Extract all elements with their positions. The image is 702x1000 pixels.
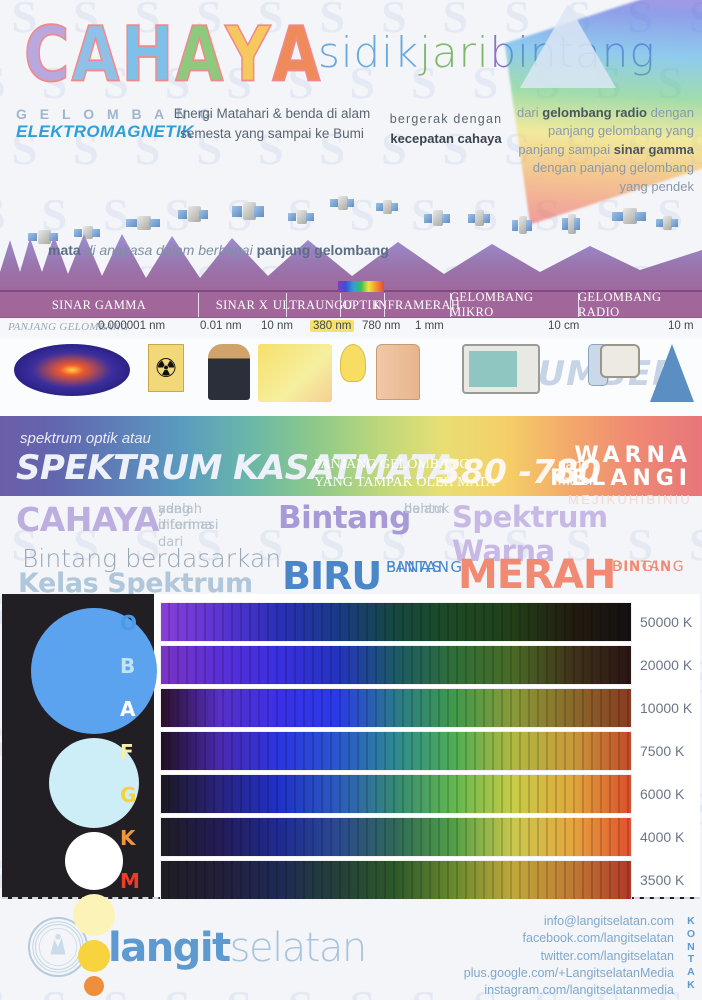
microwave-oven-icon <box>462 344 540 394</box>
contact-link-3[interactable]: plus.google.com/+LangitselatanMedia <box>464 965 674 982</box>
brand-wordmark: langitselatan <box>108 925 366 971</box>
satellite-icon-12 <box>612 208 646 224</box>
visible-spectrum-swatch-icon <box>338 281 384 292</box>
spectral-class-label-F: F <box>120 740 134 764</box>
title-letter-3: A <box>175 10 225 99</box>
em-band-divider-3 <box>340 293 341 317</box>
title-letter-0: C <box>24 10 72 99</box>
satellite-icon-11 <box>562 214 580 234</box>
em-band-sinar-gamma[interactable]: Sinar Gamma <box>0 292 198 318</box>
em-band-divider-4 <box>384 293 385 317</box>
wavelength-value-0: 0.000001 nm <box>98 320 165 332</box>
em-band-inframerah[interactable]: Inframerah <box>384 292 450 318</box>
contact-link-4[interactable]: instagram.com/langitselatanmedia <box>464 982 674 999</box>
contact-link-1[interactable]: facebook.com/langitselatan <box>464 930 674 947</box>
spectrum-strip-G <box>160 774 632 814</box>
chart-content: O50000 KB20000 KA10000 KF7500 KG6000 KK4… <box>2 594 700 897</box>
spectral-class-label-M: M <box>120 869 140 893</box>
warna-label: WARNA <box>550 444 692 467</box>
star-circle-O <box>31 608 157 734</box>
contact-link-2[interactable]: twitter.com/langitselatan <box>464 948 674 965</box>
infrared-heater-icon <box>376 344 420 400</box>
kontak-letter-3: T <box>687 953 695 966</box>
star-circle-F <box>73 894 115 936</box>
info-bintang: Bintang <box>278 500 411 536</box>
spectral-class-label-G: G <box>120 783 136 807</box>
spectrum-strip-F <box>160 731 632 771</box>
subtitle-word-1: jari <box>419 28 489 77</box>
satellite-icon-4 <box>232 202 264 220</box>
prism-icon <box>520 4 616 88</box>
radio-tower-icon <box>650 344 694 402</box>
temperature-label-B: 20000 K <box>640 657 692 673</box>
intro-radio-text: gelombang radio <box>542 105 647 120</box>
em-band-gelombang-mikro[interactable]: Gelombang mikro <box>450 292 578 318</box>
contact-list[interactable]: info@langitselatan.comfacebook.com/langi… <box>464 913 674 999</box>
wavelength-value-2: 10 nm <box>261 320 293 332</box>
wavelength-value-3: 380 nm <box>310 320 354 332</box>
spectrum-strip-A <box>160 688 632 728</box>
wavelength-value-4: 780 nm <box>362 320 400 332</box>
absorption-lines <box>161 646 631 684</box>
info-panas-2: PANAS <box>386 558 443 578</box>
kontak-vertical-label: KONTAK <box>687 915 695 992</box>
spectrum-strip-B <box>160 645 632 685</box>
spectral-class-label-O: O <box>120 611 137 635</box>
title-letter-5: A <box>272 10 322 99</box>
info-biru: BIRU <box>282 554 381 598</box>
intro-kecepatan-label: kecepatan cahaya <box>390 131 501 146</box>
kontak-letter-1: O <box>687 928 695 941</box>
satellite-icon-5 <box>288 210 314 224</box>
em-band-divider-2 <box>286 293 287 317</box>
em-band-divider-1 <box>198 293 199 317</box>
absorption-lines <box>161 818 631 856</box>
satellite-icon-9 <box>468 210 490 226</box>
contact-link-0[interactable]: info@langitselatan.com <box>464 913 674 930</box>
intro-col-speed: bergerak dengan kecepatan cahaya <box>386 110 506 149</box>
pelangi-label: PELANGI <box>550 467 692 490</box>
infographic-page: SSSSSSSSSSSSSSSSSSSSSSSSSSSSSSSSSSSSSSSS… <box>0 0 702 1000</box>
temperature-label-O: 50000 K <box>640 614 692 630</box>
page-title: CAHAYA <box>24 18 322 91</box>
warna-pelangi-block: WARNA PELANGI MEJIKUHIBINIU <box>550 444 692 507</box>
star-circle-G <box>78 940 110 972</box>
absorption-lines <box>161 603 631 641</box>
brand-langit: langit <box>108 925 230 971</box>
temperature-label-K: 4000 K <box>640 829 684 845</box>
spectrum-strip-O <box>160 602 632 642</box>
kontak-letter-0: K <box>687 915 695 928</box>
xray-body-icon <box>208 344 250 400</box>
satellite-icon-8 <box>424 210 450 226</box>
satellite-caption: mata di angkasa dalam berbagai panjang g… <box>48 242 389 258</box>
satellite-illustration-zone: mata di angkasa dalam berbagai panjang g… <box>0 180 702 290</box>
temperature-label-M: 3500 K <box>640 872 684 888</box>
caption-rest: di angkasa dalam berbagai <box>81 242 257 258</box>
title-letter-2: H <box>122 10 176 99</box>
caption-panjang-gelombang: panjang gelombang <box>257 242 389 258</box>
radiation-hazard-icon: ☢ <box>148 344 184 392</box>
absorption-lines <box>161 732 631 770</box>
radio-receiver-icon <box>600 344 640 378</box>
satellite-icon-2 <box>126 216 160 230</box>
temperature-label-F: 7500 K <box>640 743 684 759</box>
spektrum-optik-label: spektrum optik atau <box>20 430 151 447</box>
caption-mata: mata <box>48 242 81 258</box>
spectrum-strip-K <box>160 817 632 857</box>
info-dingin-2: DINGIN <box>612 558 672 576</box>
em-band-gelombang-radio[interactable]: Gelombang radio <box>578 292 702 318</box>
em-band-ultraungu[interactable]: Ultraungu <box>286 292 340 318</box>
info-text-block: CAHAYA adalah informasi yang diterima da… <box>0 496 702 594</box>
star-circle-K <box>84 976 104 996</box>
temperature-label-G: 6000 K <box>640 786 684 802</box>
spectral-class-label-A: A <box>120 697 135 721</box>
intro-text-row: G E L O M B A N G ELEKTROMAGNETIK Energi… <box>0 100 702 180</box>
spectral-class-chart: O50000 KB20000 KA10000 KF7500 KG6000 KK4… <box>2 594 700 899</box>
header: CAHAYA sidik jari bintang <box>0 0 702 100</box>
brand-selatan: selatan <box>230 925 366 971</box>
spectral-class-label-K: K <box>120 826 136 850</box>
info-cahaya: CAHAYA <box>16 500 159 539</box>
title-letter-4: Y <box>225 10 272 99</box>
title-letter-1: A <box>72 10 122 99</box>
star-circle-A <box>65 832 123 890</box>
kontak-letter-5: K <box>687 979 695 992</box>
wavelength-row: Panjang Gelombang 0.000001 nm0.01 nm10 n… <box>0 318 702 338</box>
intro-dari-text: dari <box>517 105 542 120</box>
satellite-icon-7 <box>376 200 398 214</box>
spectral-class-label-B: B <box>120 654 135 678</box>
em-band-divider-6 <box>578 293 579 317</box>
satellite-icon-3 <box>178 206 208 222</box>
intro-gamma-text: sinar gamma <box>614 142 694 157</box>
em-band-divider-5 <box>450 293 451 317</box>
light-bulb-icon <box>340 344 366 382</box>
absorption-lines <box>161 775 631 813</box>
visible-spectrum-banner: spektrum optik atau SPEKTRUM KASATMATA P… <box>0 416 702 496</box>
wavelength-value-7: 10 m <box>668 320 694 332</box>
wavelength-value-1: 0.01 nm <box>200 320 242 332</box>
kontak-letter-2: N <box>687 941 695 954</box>
info-dalam-2: bentuk <box>404 502 449 518</box>
absorption-lines <box>161 689 631 727</box>
intro-col-energy: Energi Matahari & benda di alam semesta … <box>172 104 372 143</box>
info-merah: MERAH <box>458 552 615 598</box>
spectrum-strip-M <box>160 860 632 900</box>
em-spectrum-bar: Sinar GammaSinar XUltraunguOptikInframer… <box>0 290 702 318</box>
source-icons-row: SUMBER ☢ <box>0 338 702 416</box>
intro-bergerak-label: bergerak dengan <box>386 110 506 129</box>
subtitle-word-0: sidik <box>318 28 419 77</box>
satellite-icon-6 <box>330 196 354 210</box>
temperature-label-A: 10000 K <box>640 700 692 716</box>
gamma-sky-map-icon <box>14 344 130 396</box>
absorption-lines <box>161 861 631 899</box>
mejikuhibiniu-label: MEJIKUHIBINIU <box>550 492 692 507</box>
wavelength-value-6: 10 cm <box>548 320 579 332</box>
uv-sunbathing-icon <box>258 344 332 402</box>
satellite-icon-13 <box>656 216 678 230</box>
kontak-letter-4: A <box>687 966 695 979</box>
wavelength-value-5: 1 mm <box>415 320 444 332</box>
